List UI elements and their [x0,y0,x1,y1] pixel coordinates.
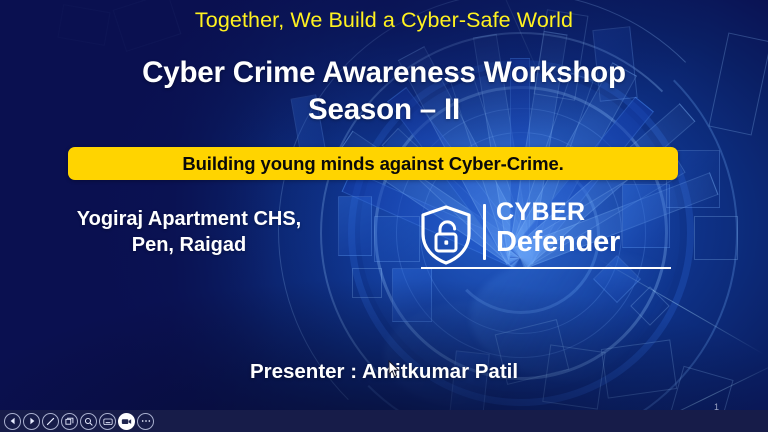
logo-word-defender: Defender [496,227,620,257]
venue-line-2: Pen, Raigad [24,232,354,258]
camera-button[interactable] [118,413,135,430]
logo-word-cyber: CYBER [496,200,620,226]
ellipsis-icon [141,419,151,423]
subtitles-button[interactable] [99,413,116,430]
mouse-cursor-icon [388,360,400,378]
venue-text: Yogiraj Apartment CHS, Pen, Raigad [24,206,354,259]
logo-underline [421,267,671,269]
cyber-defender-logo: CYBER Defender [418,200,620,266]
video-camera-icon [121,417,132,426]
title-line-1: Cyber Crime Awareness Workshop [36,54,732,91]
presenter-text: Presenter : Amitkumar Patil [0,360,768,384]
venue-line-1: Yogiraj Apartment CHS, [24,206,354,232]
pen-tool-button[interactable] [42,413,59,430]
subtitle-banner-text: Building young minds against Cyber-Crime… [182,153,563,175]
title-line-2: Season – II [36,91,732,128]
caption-screen-icon [103,417,113,426]
magnifier-icon [84,417,93,426]
logo-wordmark: CYBER Defender [496,200,620,257]
pen-icon [46,417,55,426]
page-title: Cyber Crime Awareness Workshop Season – … [36,54,732,128]
previous-slide-button[interactable] [4,413,21,430]
next-slide-button[interactable] [23,413,40,430]
slide-tagline: Together, We Build a Cyber-Safe World [0,8,768,33]
more-options-button[interactable] [137,413,154,430]
presentation-toolbar[interactable] [0,410,768,432]
triangle-right-icon [28,417,36,425]
shield-padlock-icon [418,204,474,266]
subtitle-banner: Building young minds against Cyber-Crime… [68,147,678,180]
presentation-slide[interactable]: Together, We Build a Cyber-Safe World Cy… [0,0,768,432]
logo-divider [483,204,486,260]
grid-slides-icon [65,417,74,426]
zoom-button[interactable] [80,413,97,430]
triangle-left-icon [9,417,17,425]
all-slides-button[interactable] [61,413,78,430]
